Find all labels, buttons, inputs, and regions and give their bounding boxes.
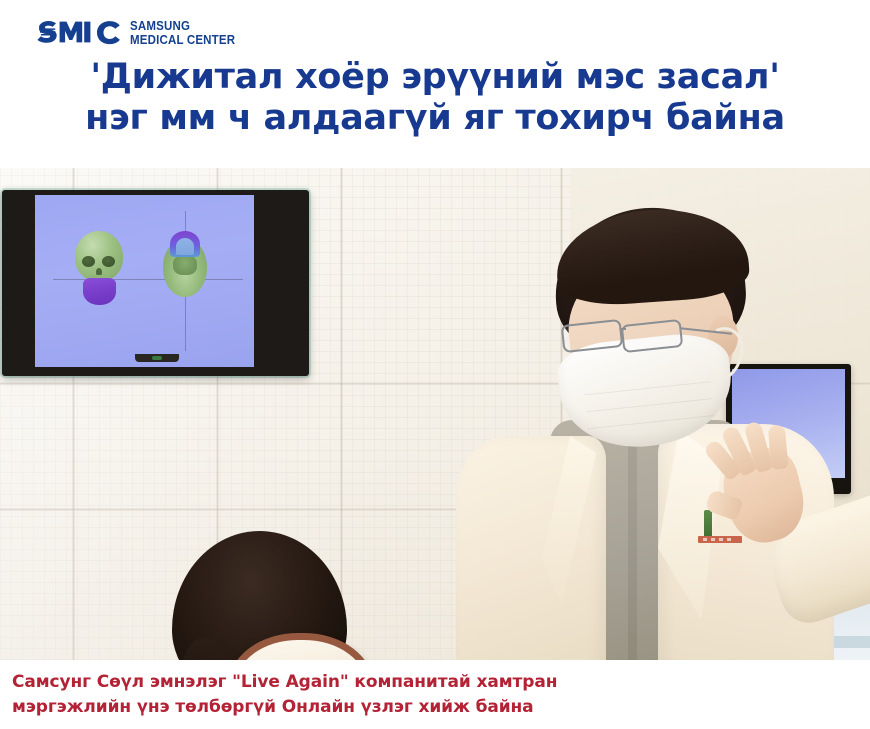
doctor-figure <box>430 198 870 660</box>
samsung-medical-center-logo: SAMSUNG MEDICAL CENTER <box>37 18 244 48</box>
hero-photo <box>0 168 870 660</box>
brand-wordmark: SAMSUNG MEDICAL CENTER <box>130 20 244 47</box>
brand-name-line2: MEDICAL CENTER <box>130 34 235 47</box>
headline-line-1: 'Дижитал хоёр эрүүний мэс засал' <box>0 57 870 98</box>
page-title: 'Дижитал хоёр эрүүний мэс засал' нэг мм … <box>0 57 870 139</box>
monitor-screen <box>35 195 254 367</box>
brand-name-line1: SAMSUNG <box>130 20 235 33</box>
doctor-name-badge-text <box>703 538 735 541</box>
skull-axial-view-render <box>163 231 207 297</box>
wall-seam-vertical <box>340 168 343 660</box>
caption-bar: Самсунг Сөүл эмнэлэг "Live Again" компан… <box>0 660 870 729</box>
caption-line-2: мэргэжлийн үнэ төлбөргүй Онлайн үзлэг хи… <box>12 695 557 720</box>
caption-text: Самсунг Сөүл эмнэлэг "Live Again" компан… <box>12 670 557 720</box>
poster-page: SAMSUNG MEDICAL CENTER 'Дижитал хоёр эрү… <box>0 0 870 729</box>
monitor-power-led-icon <box>152 356 162 360</box>
doctor-hair-front <box>553 203 751 308</box>
wall-monitor <box>2 190 309 376</box>
smc-monogram-icon <box>37 18 121 48</box>
doctor-eyeglasses <box>560 320 735 352</box>
skull-frontal-view-render <box>75 231 123 305</box>
header: SAMSUNG MEDICAL CENTER 'Дижитал хоёр эрү… <box>0 0 870 168</box>
headline-line-2: нэг мм ч алдаагүй яг тохирч байна <box>0 98 870 139</box>
caption-line-1: Самсунг Сөүл эмнэлэг "Live Again" компан… <box>12 670 557 695</box>
